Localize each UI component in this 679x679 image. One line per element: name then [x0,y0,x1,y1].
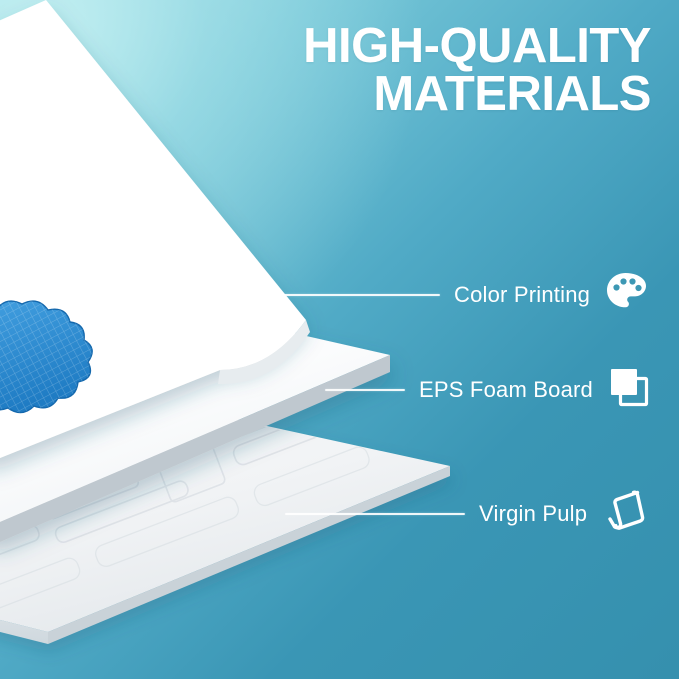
leader-line-eps-foam-board [325,389,405,391]
title-line-1: HIGH-QUALITY [251,22,651,70]
palette-icon [604,270,648,319]
curved-paper-icon [601,488,647,539]
callout-label-eps-foam-board: EPS Foam Board [419,377,593,403]
callout-label-virgin-pulp: Virgin Pulp [479,501,587,527]
stacked-sheets-icon [607,365,651,414]
leader-line-color-printing [240,294,440,296]
leader-line-virgin-pulp [285,513,465,515]
page-title: HIGH-QUALITY MATERIALS [251,22,651,118]
callout-virgin-pulp: Virgin Pulp [285,488,647,539]
callout-eps-foam-board: EPS Foam Board [325,365,651,414]
poster-canvas: HIGH-QUALITY MATERIALS Color Printing EP… [0,0,679,679]
callout-label-color-printing: Color Printing [454,282,590,308]
callout-color-printing: Color Printing [240,270,648,319]
title-line-2: MATERIALS [251,70,651,118]
